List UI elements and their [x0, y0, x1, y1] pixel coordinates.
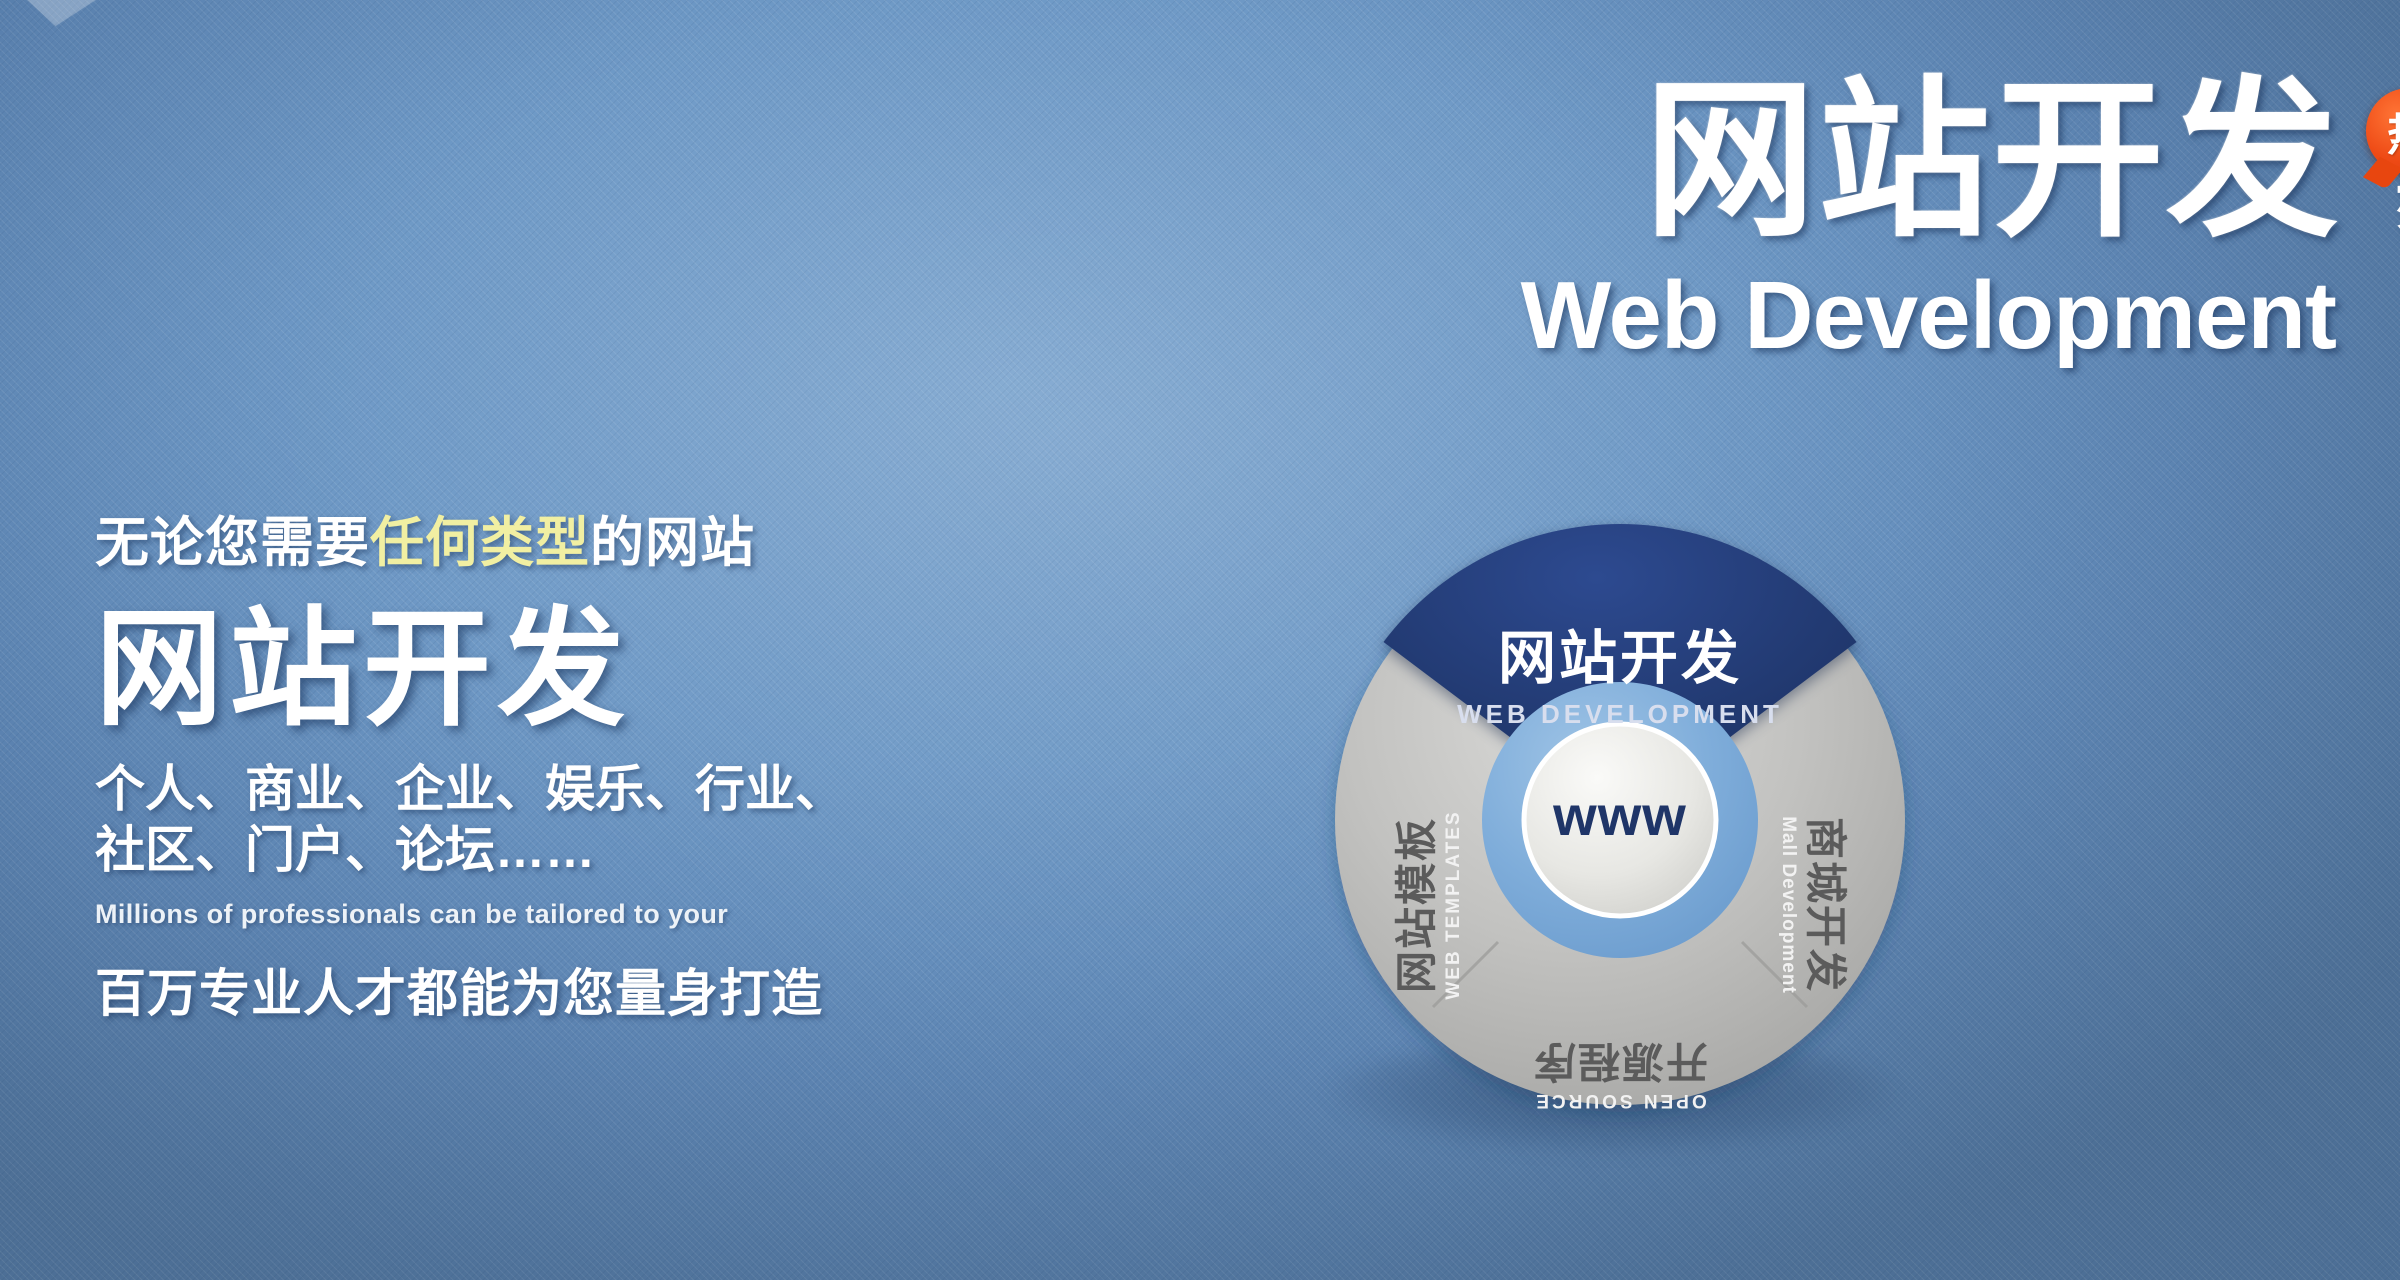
- www-watermark: W.W.W: [0, 0, 1396, 290]
- copy-category-list: 个人、商业、企业、娱乐、行业、 社区、门户、论坛……: [95, 759, 1195, 881]
- donut-svg: www 网站开发 WEB DEVELOPMENT 网站模板 WEB TEMPLA…: [1255, 435, 1985, 1165]
- copy-subtitle-en: Millions of professionals can be tailore…: [95, 899, 1195, 930]
- copy-list-line-2: 社区、门户、论坛……: [95, 820, 1195, 881]
- segment-label-web-development-cn: 网站开发: [1498, 626, 1742, 691]
- donut-segment-web-templates[interactable]: 网站模板 WEB TEMPLATES: [1393, 810, 1464, 999]
- segment-label-mall-development-en: Mall Development: [1778, 816, 1799, 994]
- segment-label-open-source-en: OPEN SOURCE: [1533, 1090, 1706, 1111]
- headline-block: 网站开发 热 频道 Web Development: [1220, 72, 2340, 371]
- headline-title-en: Web Development: [1220, 261, 2336, 371]
- donut-segment-open-source[interactable]: 开源程序 OPEN SOURCE: [1532, 1038, 1708, 1111]
- copy-tagline-suffix: 的网站: [590, 513, 755, 573]
- copy-block: 无论您需要任何类型的网站 网站开发 个人、商业、企业、娱乐、行业、 社区、门户、…: [95, 498, 1195, 1026]
- segment-label-mall-development-cn: 商城开发: [1802, 817, 1849, 993]
- copy-tagline-prefix: 无论您需要: [95, 513, 370, 573]
- copy-tagline-highlight: 任何类型: [370, 513, 590, 573]
- headline-title-cn: 网站开发: [1644, 65, 2340, 257]
- copy-tagline: 无论您需要任何类型的网站: [95, 498, 1195, 577]
- copy-footer-cn: 百万专业人才都能为您量身打造: [95, 952, 1195, 1026]
- copy-title: 网站开发: [95, 603, 1195, 737]
- banner-root: W.W.W 网站开发 热 频道 Web Development 无论您需要任何类…: [0, 0, 2400, 1280]
- segment-label-web-templates-cn: 网站模板: [1393, 817, 1440, 993]
- segment-label-web-development-en: WEB DEVELOPMENT: [1457, 699, 1783, 729]
- donut-segment-mall-development[interactable]: 商城开发 Mall Development: [1778, 816, 1849, 994]
- hot-badge: 热: [2366, 88, 2400, 174]
- segment-label-open-source-cn: 开源程序: [1532, 1038, 1708, 1085]
- hot-badge-label: 热: [2366, 88, 2400, 174]
- headline-title-row: 网站开发 热 频道: [1644, 72, 2340, 251]
- segment-label-web-templates-en: WEB TEMPLATES: [1443, 810, 1464, 999]
- web-development-donut-diagram: www 网站开发 WEB DEVELOPMENT 网站模板 WEB TEMPLA…: [1255, 435, 1985, 1165]
- donut-center-label: www: [1552, 784, 1687, 847]
- copy-list-line-1: 个人、商业、企业、娱乐、行业、: [95, 759, 1195, 820]
